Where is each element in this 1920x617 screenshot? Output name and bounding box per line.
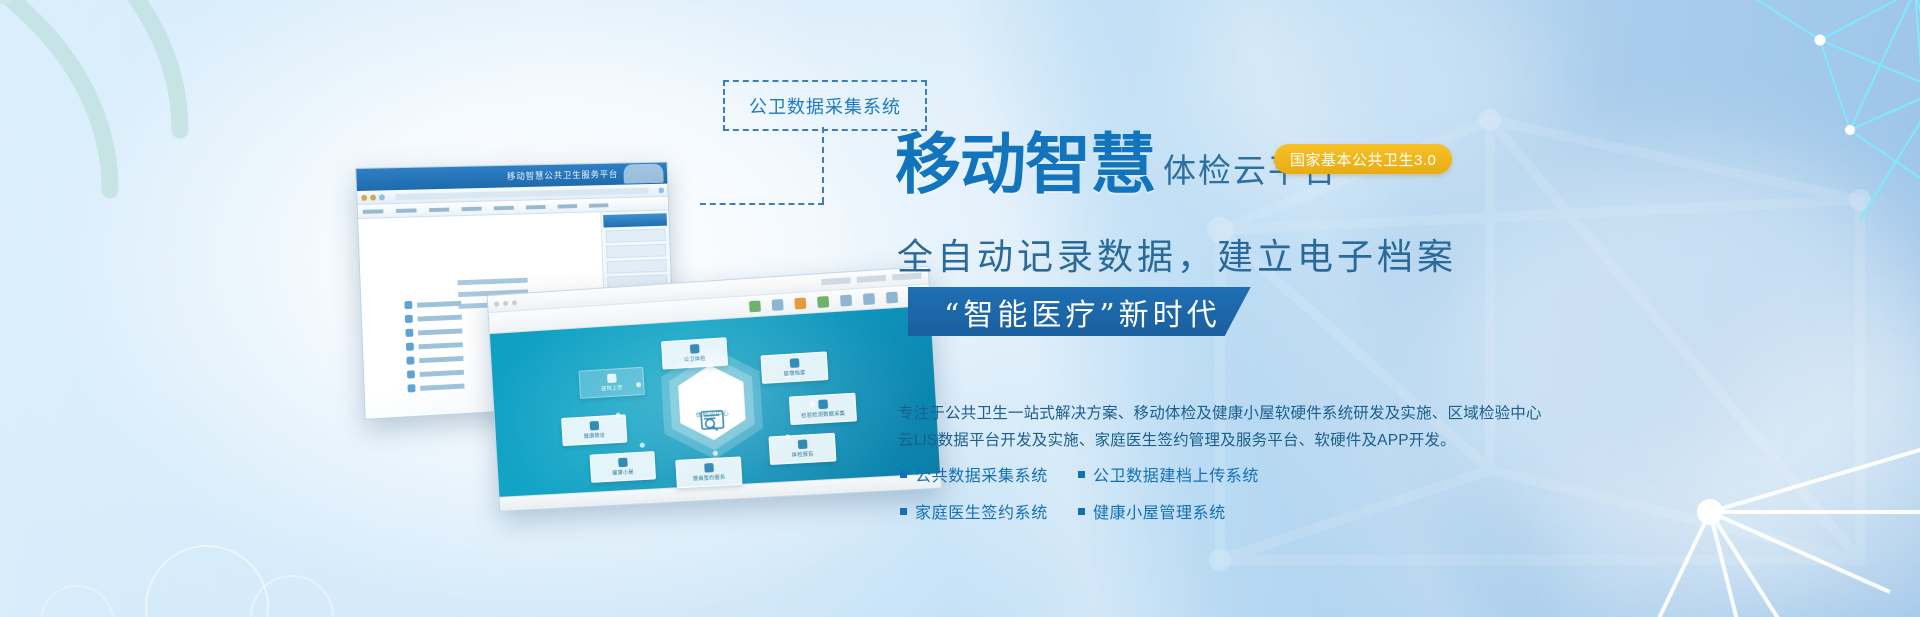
tag-row: 家庭医生签约系统 健康小屋管理系统 xyxy=(900,499,1320,523)
bullet-icon xyxy=(900,508,907,515)
side-panel-item xyxy=(606,229,666,243)
feature-label xyxy=(418,314,462,321)
hexagon-outer-ring xyxy=(651,342,772,462)
ribbon-icon xyxy=(840,294,852,306)
ribbon-banner: “智能医疗”新时代 xyxy=(908,287,1251,336)
tab-item xyxy=(821,277,850,285)
tag-label: 家庭医生签约系统 xyxy=(915,499,1048,523)
ribbon-icon xyxy=(863,293,875,305)
menu-item xyxy=(494,205,514,209)
feature-icon xyxy=(407,370,415,378)
headline-row: 移动智慧 体检云平台 xyxy=(895,133,1338,196)
window-control-icon xyxy=(512,300,517,305)
spoke-dot xyxy=(810,402,815,407)
side-panel-header xyxy=(603,213,667,227)
feature-label xyxy=(419,356,463,363)
front-window-dashboard: 体检点中心 公卫体检 健康档案 检验检测数据采集 xyxy=(490,306,940,497)
spoke-dot xyxy=(785,435,790,440)
tag-label: 公共数据采集系统 xyxy=(915,462,1048,486)
dashboard-node[interactable]: 检验检测数据采集 xyxy=(789,393,857,425)
hexagon-core-label: 体检点中心 xyxy=(674,407,750,421)
feature-icon xyxy=(405,315,413,323)
banner-root: 公卫数据采集系统 移动智慧公共卫生服务平台 xyxy=(0,0,1920,617)
menu-item xyxy=(396,208,417,213)
ribbon-icon xyxy=(886,291,898,303)
callout-connector-vertical xyxy=(822,127,824,203)
window-control-icon xyxy=(494,301,499,306)
document-search-icon xyxy=(699,409,727,433)
dashboard-node[interactable]: 健康随访 xyxy=(561,414,627,446)
tag-item[interactable]: 公共数据采集系统 xyxy=(900,462,1078,486)
handshake-icon xyxy=(704,463,714,473)
heart-icon xyxy=(618,458,628,468)
file-icon xyxy=(789,358,799,368)
report-icon xyxy=(589,421,599,431)
feature-label xyxy=(417,300,461,307)
tag-item[interactable]: 公卫数据建档上传系统 xyxy=(1078,462,1259,486)
headline-line2: 全自动记录数据，建立电子档案 xyxy=(897,228,1457,280)
feature-icon xyxy=(407,384,415,392)
dashboard-node-label: 慢病签约服务 xyxy=(693,474,726,483)
dashboard-node[interactable]: 建档上传 xyxy=(578,367,644,399)
dashboard-node[interactable]: 健康档案 xyxy=(760,351,828,383)
bullet-icon xyxy=(1078,508,1085,515)
spoke-dot xyxy=(707,363,712,368)
feature-label xyxy=(418,328,462,335)
dashboard-node[interactable]: 公卫体检 xyxy=(661,337,728,369)
clipboard-icon xyxy=(797,439,807,449)
dashboard-node[interactable]: 健康小屋 xyxy=(590,451,656,483)
ribbon-label: “智能医疗”新时代 xyxy=(944,290,1221,334)
dashboard-node-label: 健康档案 xyxy=(784,369,806,377)
spoke-dot xyxy=(616,413,621,418)
back-window-title: 移动智慧公共卫生服务平台 xyxy=(507,167,619,182)
toolbar-dot-icon xyxy=(361,194,367,200)
feature-label xyxy=(420,369,464,376)
dashboard-node-label: 体检报告 xyxy=(792,450,814,458)
tab-item xyxy=(857,275,887,283)
bullet-icon xyxy=(900,471,907,478)
doctor-avatar-icon xyxy=(623,164,663,184)
feature-icon xyxy=(404,301,412,309)
tag-list: 公共数据采集系统 公卫数据建档上传系统 家庭医生签约系统 健康小屋管理系统 xyxy=(900,462,1320,536)
headline-block: 移动智慧 体检云平台 xyxy=(895,133,1338,196)
menu-item xyxy=(589,203,608,207)
tag-item[interactable]: 健康小屋管理系统 xyxy=(1078,499,1226,523)
dashboard-center-hexagon: 体检点中心 xyxy=(651,342,772,462)
dashboard-node-label: 建档上传 xyxy=(601,384,623,392)
lab-icon xyxy=(818,399,828,409)
dashboard-node-label: 健康小屋 xyxy=(612,468,634,476)
dashboard-node[interactable]: 体检报告 xyxy=(768,433,836,465)
tag-label: 健康小屋管理系统 xyxy=(1093,499,1226,523)
description-block: 专注于公共卫生一站式解决方案、移动体检及健康小屋软硬件系统研发及实施、区域检验中… xyxy=(898,400,1598,454)
ribbon-icon xyxy=(772,298,784,310)
hexagon-middle-ring xyxy=(661,352,763,453)
stethoscope-icon xyxy=(689,344,699,354)
float-label xyxy=(458,278,528,286)
tag-label: 公卫数据建档上传系统 xyxy=(1093,462,1259,486)
dashboard-node-label: 公卫体检 xyxy=(684,355,706,363)
side-panel-item xyxy=(606,244,666,259)
toolbar-dot-icon xyxy=(658,187,664,193)
callout-box: 公卫数据采集系统 xyxy=(723,80,927,131)
feature-label xyxy=(420,383,464,390)
feature-icon xyxy=(405,329,413,337)
description-line-2: 云LIS数据平台开发及实施、家庭医生签约管理及服务平台、软硬件及APP开发。 xyxy=(898,427,1598,454)
side-panel-item xyxy=(607,259,667,274)
menu-item xyxy=(363,209,384,214)
upload-icon xyxy=(607,373,617,383)
feature-icon xyxy=(406,343,414,351)
description-line-1: 专注于公共卫生一站式解决方案、移动体检及健康小屋软硬件系统研发及实施、区域检验中… xyxy=(898,400,1598,427)
dashboard-node[interactable]: 慢病签约服务 xyxy=(675,456,742,488)
dashboard-node-label: 检验检测数据采集 xyxy=(801,410,845,420)
feature-label xyxy=(419,342,463,349)
menu-item xyxy=(526,205,546,209)
toolbar-dot-icon xyxy=(379,194,385,200)
ribbon-icon xyxy=(794,297,806,309)
window-control-icon xyxy=(503,300,508,305)
spoke-dot xyxy=(636,382,641,387)
dashboard-node-label: 健康随访 xyxy=(584,432,606,440)
hexagon-core: 体检点中心 xyxy=(672,363,752,442)
menu-item xyxy=(558,204,578,208)
tag-item[interactable]: 家庭医生签约系统 xyxy=(900,499,1078,523)
headline-main: 移动智慧 xyxy=(895,133,1155,196)
callout-label: 公卫数据采集系统 xyxy=(749,93,901,119)
tag-row: 公共数据采集系统 公卫数据建档上传系统 xyxy=(900,462,1320,486)
ribbon-icon xyxy=(749,300,761,312)
ribbon-icon xyxy=(817,296,829,308)
status-badge: 国家基本公共卫生3.0 xyxy=(1274,144,1452,174)
dna-helix-decoration xyxy=(0,0,300,310)
feature-icon xyxy=(406,356,414,364)
spoke-dot xyxy=(785,373,790,378)
bullet-icon xyxy=(1078,471,1085,478)
menu-item xyxy=(462,206,482,210)
toolbar-dot-icon xyxy=(370,194,376,200)
screenshot-front-window: 体检点中心 公卫体检 健康档案 检验检测数据采集 xyxy=(487,266,942,512)
spoke-dot xyxy=(713,450,718,455)
menu-item xyxy=(429,207,449,211)
callout-connector-horizontal xyxy=(700,203,824,205)
spoke-dot xyxy=(639,443,644,448)
